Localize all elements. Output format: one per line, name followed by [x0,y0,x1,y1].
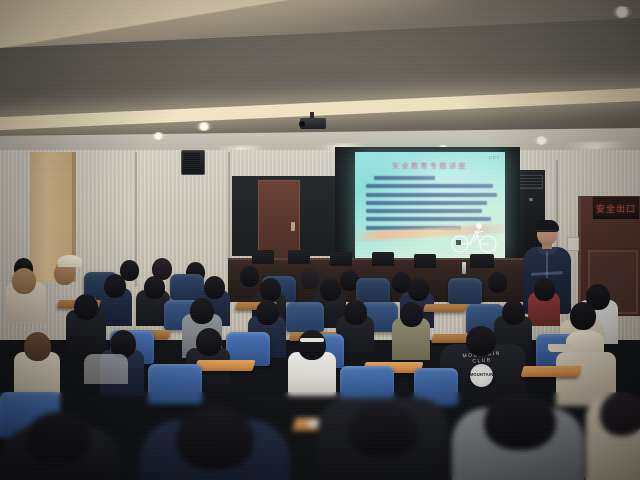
student-head-foreground [26,412,90,464]
cap-brim [548,344,572,352]
student-head [400,302,423,327]
hair-tie [300,338,324,342]
student-head [466,326,496,356]
student-head [240,266,259,287]
student-head [344,300,367,325]
student-head-foreground [484,394,556,450]
student-cap [58,255,82,267]
seat[interactable] [148,364,202,404]
student-head [12,268,36,294]
student-head [74,294,98,320]
student-head [502,300,525,325]
student-head [204,276,225,299]
desk-tablet [520,366,581,377]
student-head-foreground [600,392,640,436]
desk-tablet [423,304,467,312]
desk-tablet [194,360,255,371]
seat[interactable] [356,278,390,304]
student-head [256,300,279,325]
audience: MOUNTAIN CLUB MOUNTAIN [0,0,640,480]
mountain-logo-icon: MOUNTAIN [470,364,493,387]
student-head [144,276,165,299]
student-head-foreground [176,408,254,470]
student-head [190,298,214,324]
seat[interactable] [448,278,482,304]
seat[interactable] [286,302,324,332]
student-head [24,332,51,361]
student-body-foreground [84,354,128,384]
student-head [488,272,507,293]
student-head [408,278,429,301]
student-head [320,278,341,301]
mountain-logo-label: MOUNTAIN [470,373,494,378]
student-head [298,330,326,360]
student-head [300,268,319,289]
lecture-hall-photo: 安全出口 安全教育专题讲座 PPT [0,0,640,480]
student-head [104,274,126,298]
student-head [534,278,555,301]
student-head-foreground [348,404,418,458]
student-head [196,328,222,356]
student-head [570,302,596,330]
student-head [260,278,281,301]
